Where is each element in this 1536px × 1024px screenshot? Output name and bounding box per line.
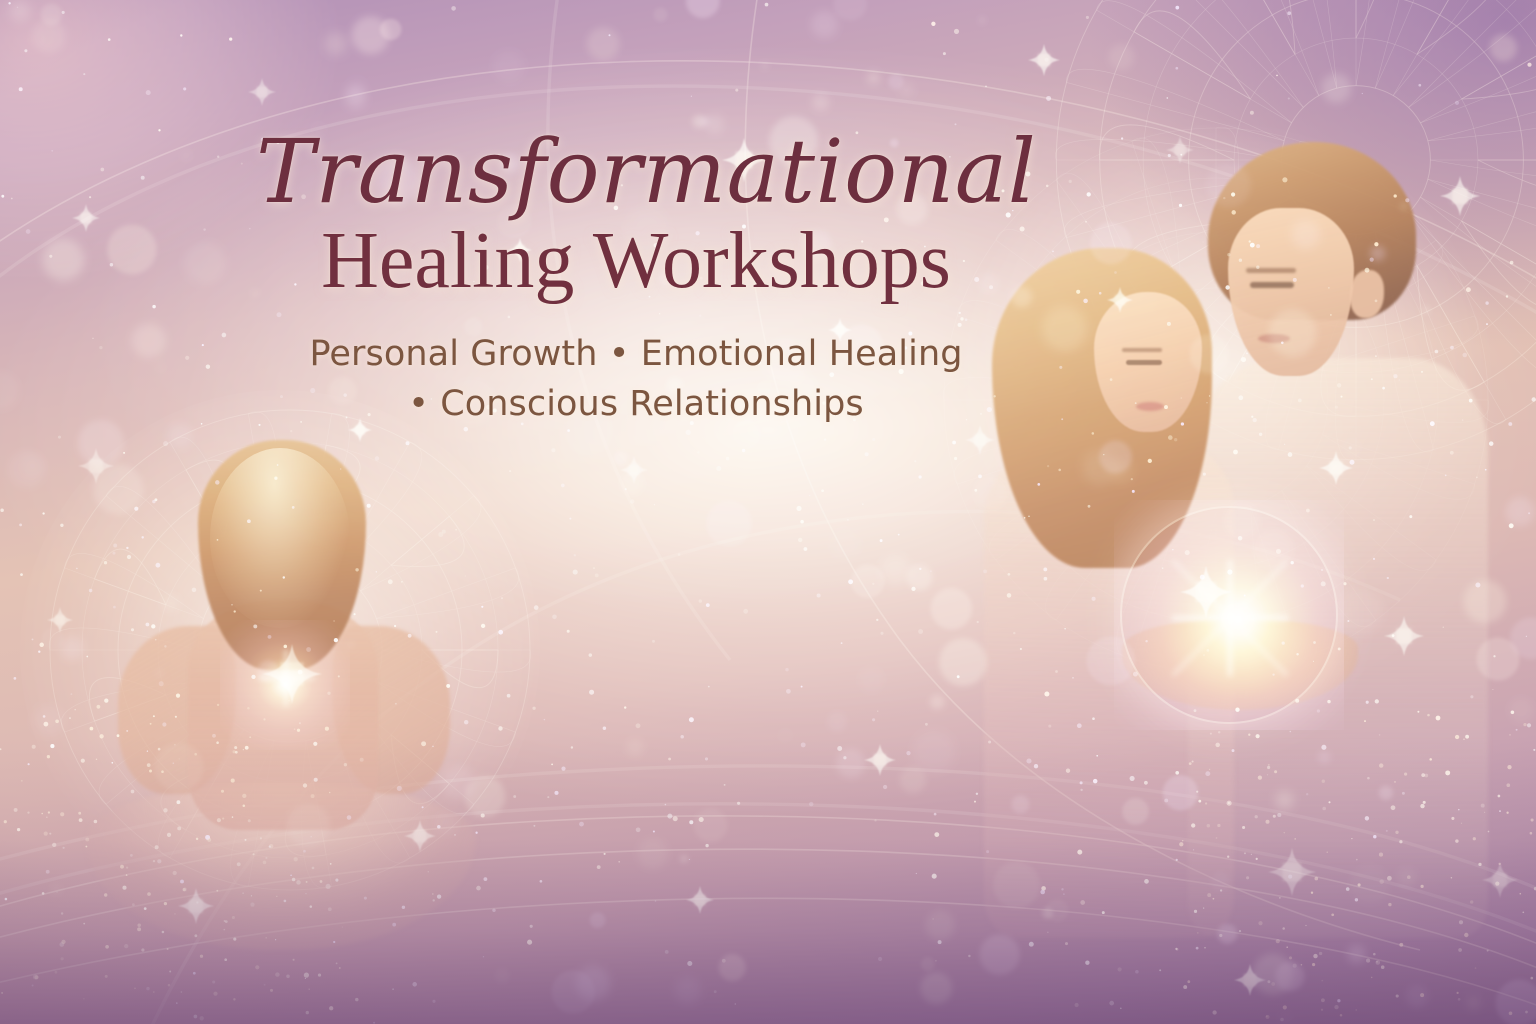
subtitle-line-1: Personal Growth • Emotional Healing xyxy=(256,330,1016,380)
headline-text-block: Transformational Healing Workshops Perso… xyxy=(256,128,1016,430)
subtitle-line-2: • Conscious Relationships xyxy=(256,380,1016,430)
headline-script-line: Transformational xyxy=(256,128,1016,216)
subtitle-block: Personal Growth • Emotional Healing • Co… xyxy=(256,330,1016,429)
headline-serif-line: Healing Workshops xyxy=(256,218,1016,304)
promotional-banner: Transformational Healing Workshops Perso… xyxy=(0,0,1536,1024)
